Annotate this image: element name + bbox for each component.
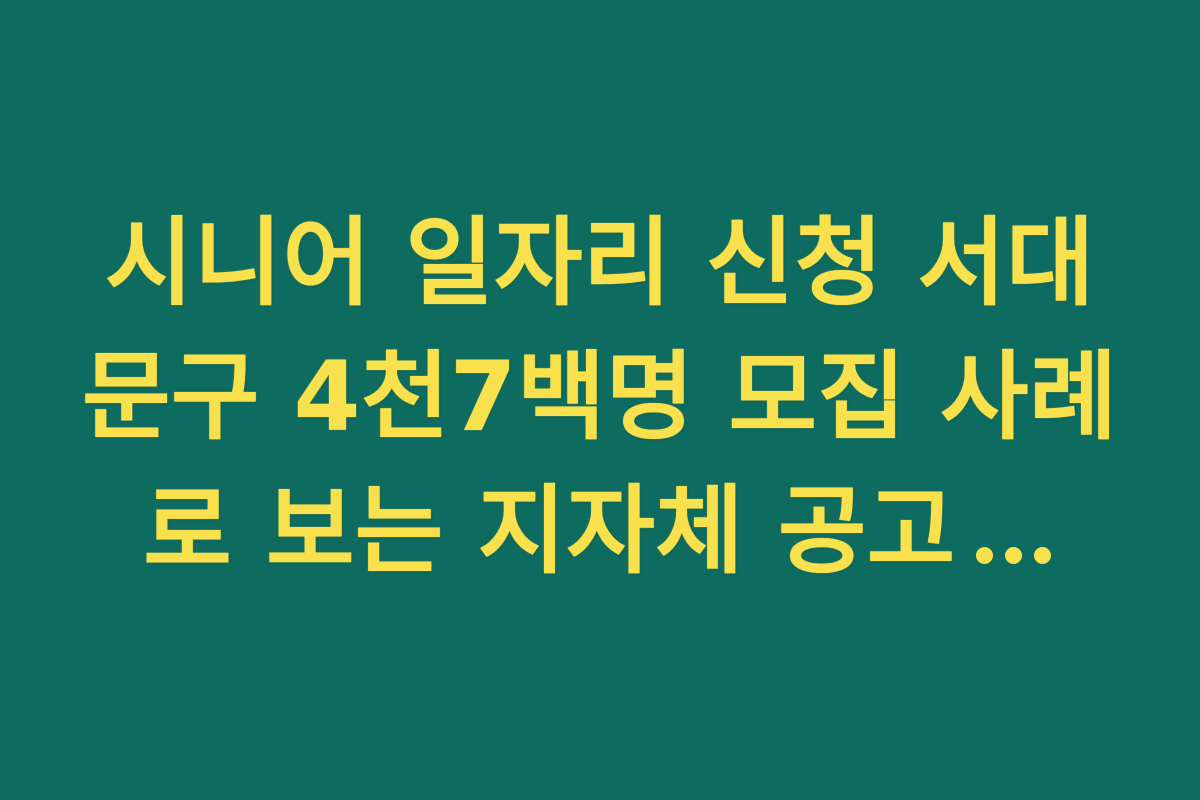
headline-line-3-wrapper: 로 보는 지자체 공고 xyxy=(80,464,1120,605)
headline-line-2: 문구 4천7백명 모집 사례 xyxy=(80,330,1120,464)
thumbnail-card: 시니어 일자리 신청 서대 문구 4천7백명 모집 사례 로 보는 지자체 공고 xyxy=(0,0,1200,800)
headline-text-block: 시니어 일자리 신청 서대 문구 4천7백명 모집 사례 로 보는 지자체 공고 xyxy=(80,196,1120,605)
headline-line-3: 로 보는 지자체 공고 xyxy=(143,475,955,587)
ellipsis-dot-2 xyxy=(1005,547,1022,564)
ellipsis-truncation-icon xyxy=(970,464,1057,598)
ellipsis-dot-3 xyxy=(1034,547,1051,564)
headline-line-1: 시니어 일자리 신청 서대 xyxy=(80,196,1120,330)
ellipsis-dot-1 xyxy=(976,547,993,564)
